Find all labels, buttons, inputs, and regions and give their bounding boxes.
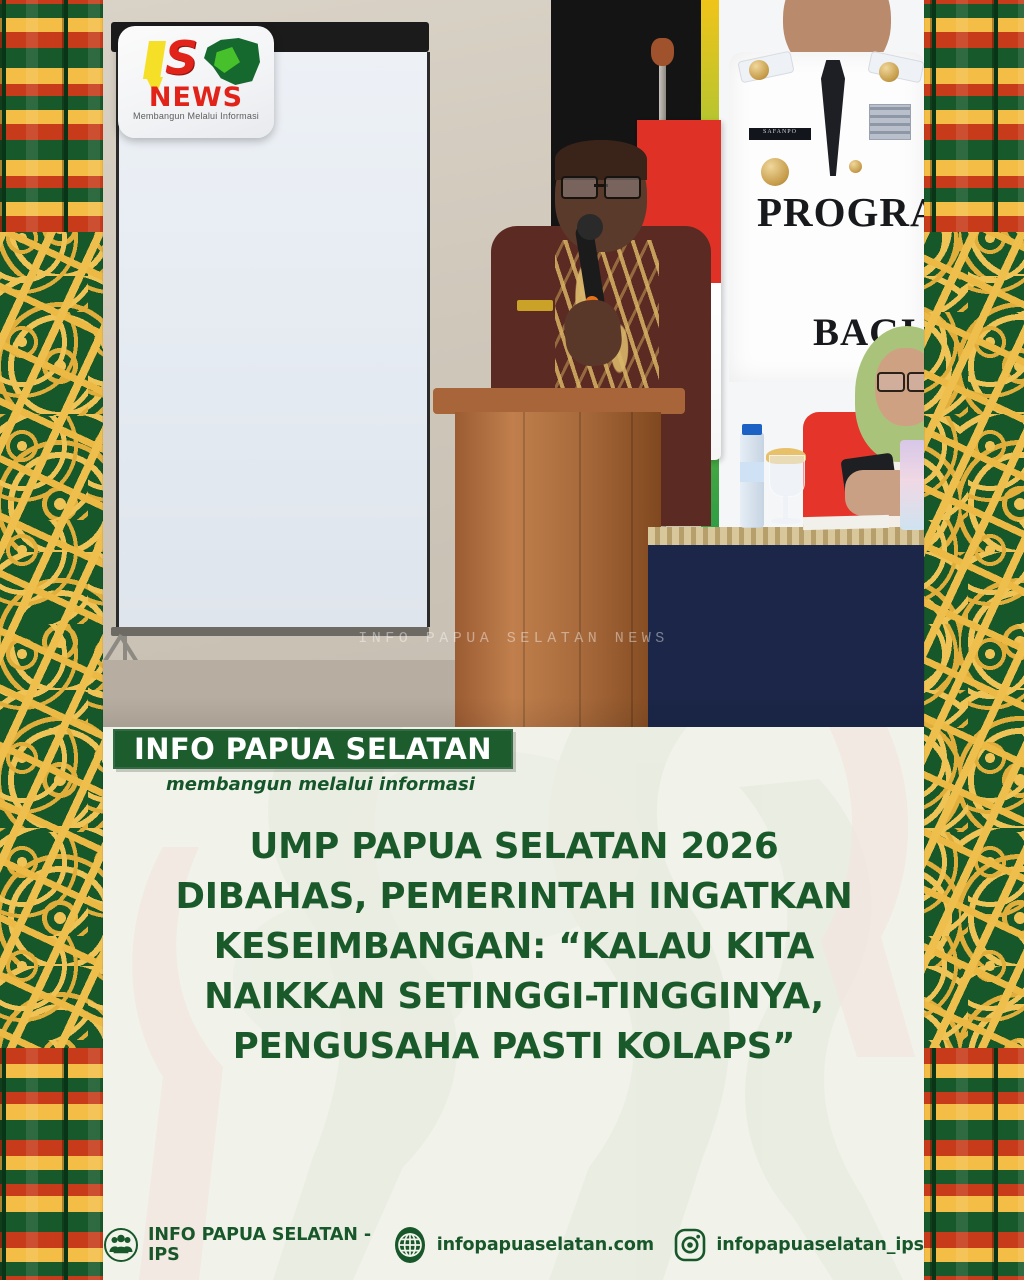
footer-social-bar: INFO PAPUA SELATAN - IPS infopapuaselata xyxy=(103,1222,924,1268)
footer-label-website: infopapuaselatan.com xyxy=(437,1235,654,1255)
speaker-eyeglasses xyxy=(561,176,641,195)
speaker-hair xyxy=(555,140,647,180)
podium-seam-2 xyxy=(579,412,581,727)
water-bottle-cap xyxy=(742,424,762,435)
flag-pole-finial xyxy=(651,38,674,66)
headline-line-2: DIBAHAS, PEMERINTAH INGATKAN xyxy=(131,872,897,922)
button-emblem-right xyxy=(849,160,862,173)
footer-item-facebook[interactable]: INFO PAPUA SELATAN - IPS xyxy=(103,1225,372,1265)
people-group-icon xyxy=(103,1227,139,1263)
officer-nametag-label: SAFANPO xyxy=(751,129,809,135)
globe-icon xyxy=(392,1225,428,1265)
banner-headline-primary: PROGRA xyxy=(757,188,924,236)
headline-line-4: NAIKKAN SETINGGI-TINGGINYA, xyxy=(131,972,897,1022)
logo-letter-s: S xyxy=(165,37,207,83)
content-card: SAFANPO PROGRA BAGI xyxy=(103,0,924,1280)
medal-right xyxy=(879,62,899,82)
projector-screen xyxy=(116,52,430,627)
footer-item-instagram[interactable]: infopapuaselatan_ips xyxy=(673,1225,924,1265)
poster: SAFANPO PROGRA BAGI xyxy=(0,0,1024,1280)
headline-line-5: PENGUSAHA PASTI KOLAPS” xyxy=(131,1022,897,1072)
speaker-name-badge xyxy=(517,300,553,311)
podium-seam-1 xyxy=(523,412,525,727)
brand-subtitle: membangun melalui informasi xyxy=(166,774,475,795)
footer-label-instagram: infopapuaselatan_ips xyxy=(716,1235,924,1255)
glass-bowl-stem xyxy=(783,495,788,519)
photo-bottom-fade xyxy=(103,697,924,727)
glass-bowl xyxy=(769,455,805,497)
medal-left xyxy=(749,60,769,80)
headline-line-3: KESEIMBANGAN: “KALAU KITA xyxy=(131,922,897,972)
logo-wordmark: NEWS xyxy=(118,82,274,113)
footer-item-website[interactable]: infopapuaselatan.com xyxy=(392,1225,654,1265)
headline-line-1: UMP PAPUA SELATAN 2026 xyxy=(131,822,897,872)
paper-sheet xyxy=(803,515,889,530)
footer-label-facebook: INFO PAPUA SELATAN - IPS xyxy=(148,1225,372,1265)
microphone-head xyxy=(577,214,603,240)
brand-title-bar: INFO PAPUA SELATAN xyxy=(113,729,513,769)
brand-title-text: INFO PAPUA SELATAN xyxy=(134,732,492,766)
logo-mark: S xyxy=(136,35,256,87)
instagram-icon xyxy=(673,1225,707,1265)
podium-seam-3 xyxy=(631,412,633,727)
glass-bowl-foot xyxy=(771,518,801,524)
pen-nib-icon xyxy=(143,41,166,79)
podium-top xyxy=(433,388,685,414)
panelist-eyeglasses xyxy=(877,372,924,388)
headline: UMP PAPUA SELATAN 2026 DIBAHAS, PEMERINT… xyxy=(131,822,897,1072)
decorative-tumbler xyxy=(900,440,924,530)
service-ribbons xyxy=(869,104,911,140)
button-emblem-left xyxy=(761,158,789,186)
water-bottle-label xyxy=(740,462,764,482)
logo-tagline: Membangun Melalui Informasi xyxy=(118,111,274,121)
photo-watermark-text: INFO PAPUA SELATAN NEWS xyxy=(103,630,924,647)
ips-news-logo: S NEWS Membangun Melalui Informasi xyxy=(118,26,274,138)
